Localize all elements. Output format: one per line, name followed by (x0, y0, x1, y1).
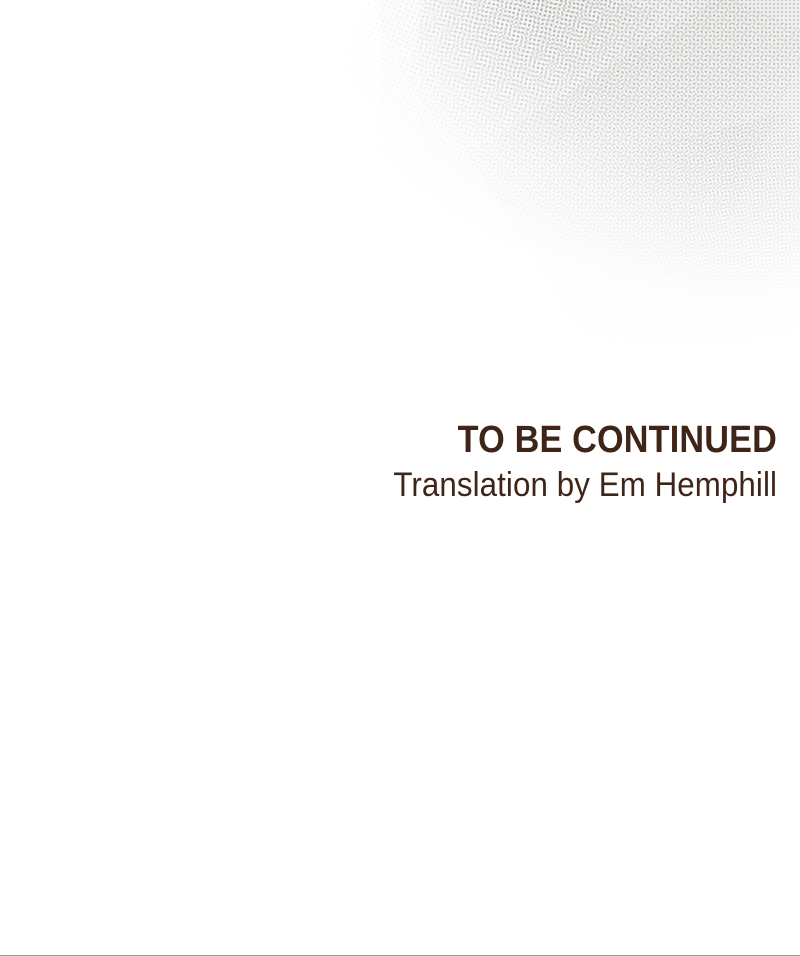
comic-panel: TO BE CONTINUED Translation by Em Hemphi… (0, 0, 800, 956)
screentone-dot-layer-c (468, 0, 800, 434)
screentone-dot-layer-a (420, 0, 800, 350)
halftone-dot-cloud-icon (400, 0, 800, 380)
credits-block: TO BE CONTINUED Translation by Em Hemphi… (360, 421, 777, 502)
screentone-dot-layer-specks (340, 0, 490, 130)
screentone-haze-layer (380, 0, 800, 360)
translator-credit: Translation by Em Hemphill (393, 468, 777, 502)
screentone-dot-layer-b (295, 0, 800, 336)
to-be-continued-title: TO BE CONTINUED (402, 421, 777, 459)
screentone-dot-layer-dense (393, 0, 657, 196)
screentone-dot-layer-wisp (583, 111, 800, 406)
